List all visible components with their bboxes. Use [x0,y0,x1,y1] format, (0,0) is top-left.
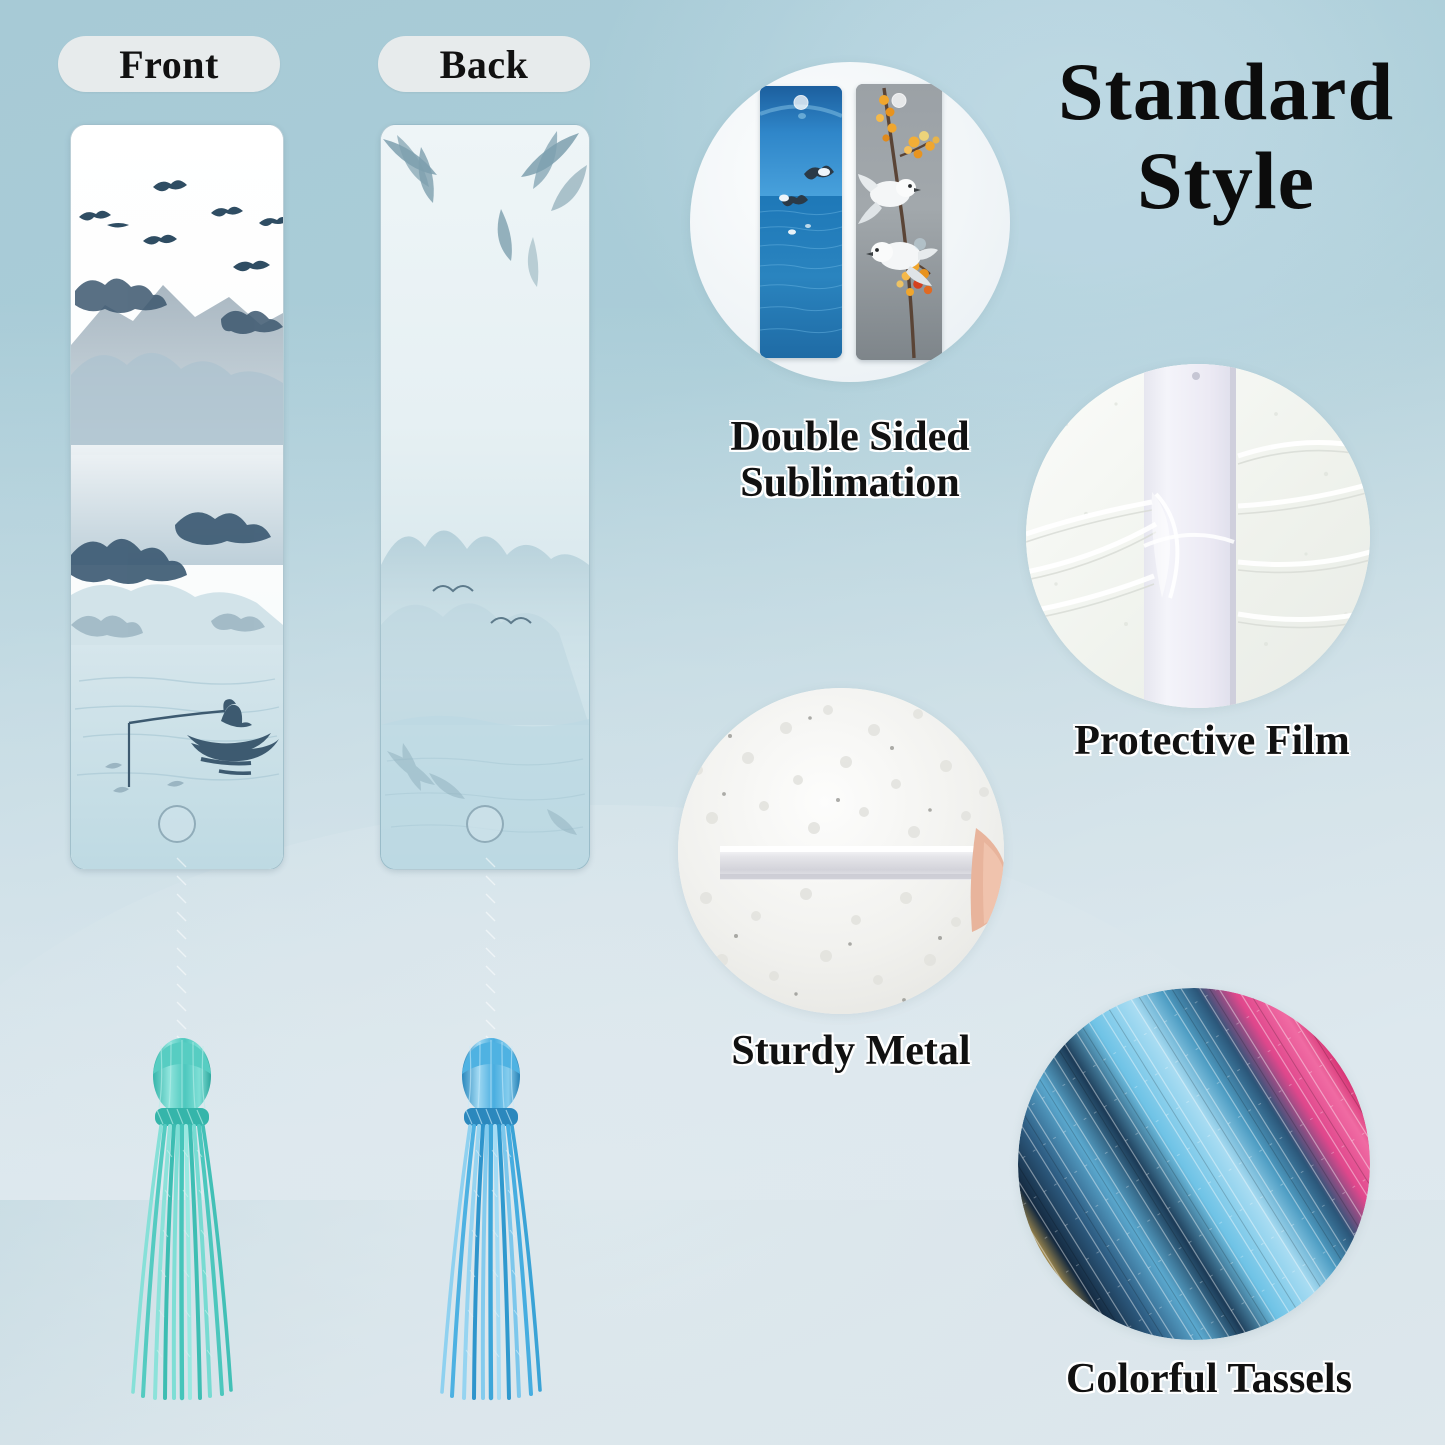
feature-photo-sublimation [690,62,1010,382]
sturdy-metal-scene [678,688,1004,1014]
mini-hole-birds [892,93,907,108]
front-tassel-hole [158,805,196,843]
bookmark-back [380,124,590,870]
feature-photo-metal [678,688,1004,1014]
lower-mist [381,716,589,869]
bookmark-front [70,124,284,870]
sublimation-label-line-2: Sublimation [660,460,1040,506]
tassel-mint [123,850,243,1410]
front-artwork [71,125,283,869]
mini-hole-ocean [794,95,809,110]
feature-label-film: Protective Film [1012,718,1412,764]
sublimation-label-line-1: Double Sided [660,414,1040,460]
white-birds-berries-scene [856,84,942,360]
photo-bookmark-ocean [760,86,842,358]
back-tassel-hole [466,805,504,843]
label-pill-front: Front [58,36,280,92]
feature-label-tassels: Colorful Tassels [1004,1356,1414,1402]
feature-photo-film [1026,364,1370,708]
photo-bookmark-birds [856,84,942,360]
feature-label-sublimation: Double Sided Sublimation [660,414,1040,506]
tassel-sky-blue [432,850,552,1410]
page-title: Standard Style [1026,48,1426,225]
title-line-1: Standard [1058,46,1394,137]
feature-photo-tassels [1018,988,1370,1340]
feature-label-metal: Sturdy Metal [686,1028,1016,1074]
title-line-2: Style [1026,137,1426,226]
label-pill-back: Back [378,36,590,92]
back-artwork [381,125,589,869]
colorful-threads-scene [1018,988,1370,1340]
ocean-seabirds-scene [760,86,842,358]
infographic-canvas: Standard Style Front [0,0,1445,1445]
protective-film-scene [1026,364,1370,708]
